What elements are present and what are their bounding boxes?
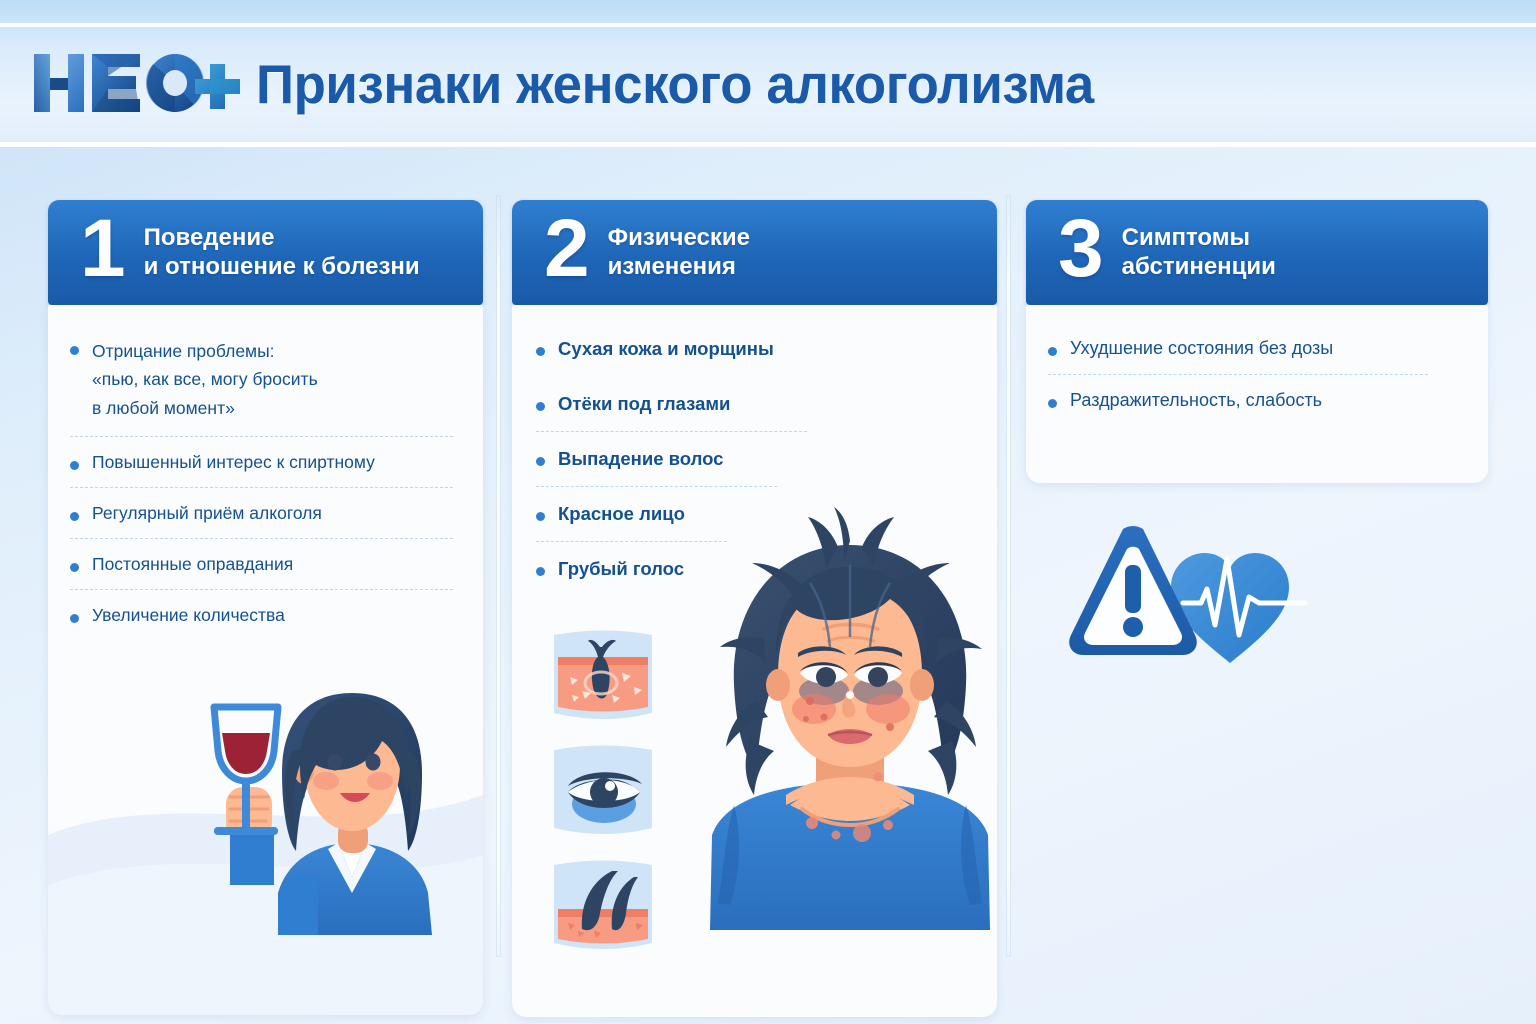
card-3-number: 3 [1058, 213, 1104, 285]
list-item-label: Красное лицо [558, 503, 685, 525]
list-item-label: Постоянные оправдания [92, 554, 293, 575]
list-separator [70, 487, 453, 488]
list-item[interactable]: Отрицание проблемы: «пью, как все, могу … [70, 337, 463, 422]
bullet-dot [70, 614, 79, 623]
list-item[interactable]: Выпадение волос [536, 448, 977, 470]
card-3-title-line2: абстиненции [1122, 253, 1276, 281]
hand [214, 779, 278, 839]
skin-follicle-icon [548, 625, 658, 725]
bullet-dot [70, 461, 79, 470]
bullet-dot [536, 402, 545, 411]
page-title: Признаки женского алкоголизма [256, 52, 1094, 116]
list-item-text: Отрицание проблемы: «пью, как все, могу … [92, 337, 318, 422]
card-3-title: Симптомы абстиненции [1122, 224, 1276, 281]
card-2-title-line2: изменения [608, 253, 750, 281]
list-separator [536, 376, 967, 377]
header-rule-bottom [0, 142, 1536, 147]
card-3-header: 3 Симптомы абстиненции [1026, 200, 1488, 305]
list-separator [70, 538, 453, 539]
hair-loss-icon [548, 855, 658, 955]
card-column-3: 3 Симптомы абстиненции Ухудшение состоян… [1026, 200, 1488, 483]
card-3-body: Ухудшение состояния без дозы Раздражител… [1026, 305, 1488, 483]
header-rule-top [0, 23, 1536, 27]
bullet-dot [1048, 399, 1057, 408]
card-1-header: 1 Поведение и отношение к болезни [48, 200, 483, 305]
list-item[interactable]: Увеличение количества [70, 605, 463, 626]
list-item-label: Сухая кожа и морщины [558, 338, 774, 360]
list-separator [536, 486, 777, 487]
list-separator [70, 589, 453, 590]
list-item-label: Выпадение волос [558, 448, 723, 470]
list-item-label: Раздражительность, слабость [1070, 390, 1322, 411]
bullet-dot [70, 563, 79, 572]
card-2-title: Физические изменения [608, 224, 750, 281]
bullet-dot [536, 567, 545, 576]
list-item[interactable]: Сухая кожа и морщины [536, 338, 977, 360]
column-divider-1 [497, 196, 500, 956]
list-item-label: Повышенный интерес к спиртному [92, 452, 375, 473]
card-1-bullet-list: Отрицание проблемы: «пью, как все, могу … [48, 305, 483, 626]
card-2-number: 2 [544, 213, 590, 285]
eye-bag-icon [548, 740, 658, 840]
card-3-title-line1: Симптомы [1122, 224, 1276, 252]
list-item[interactable]: Повышенный интерес к спиртному [70, 452, 463, 473]
bullet-dot [1048, 347, 1057, 356]
list-item-label: Ухудшение состояния без дозы [1070, 338, 1333, 359]
list-item[interactable]: Регулярный приём алкоголя [70, 503, 463, 524]
list-separator [536, 431, 807, 432]
illustration-warning-and-heartbeat [1055, 515, 1325, 675]
list-item-label: Отёки под глазами [558, 393, 730, 415]
list-separator [1048, 374, 1428, 375]
list-item[interactable]: Раздражительность, слабость [1048, 390, 1468, 411]
card-3-bullet-list: Ухудшение состояния без дозы Раздражител… [1026, 305, 1488, 411]
bullet-dot [70, 512, 79, 521]
icon-tile-stack [548, 625, 658, 955]
neo-plus-logo [32, 50, 244, 116]
card-2-header: 2 Физические изменения [512, 200, 997, 305]
card-2-title-line1: Физические [608, 224, 750, 252]
list-separator [70, 436, 453, 437]
infographic-canvas: Признаки женского алкоголизма 1 Поведени… [0, 0, 1536, 1024]
list-item[interactable]: Ухудшение состояния без дозы [1048, 338, 1468, 359]
list-item[interactable]: Постоянные оправдания [70, 554, 463, 575]
bullet-dot [536, 347, 545, 356]
illustration-woman-with-wine-glass [170, 645, 490, 935]
card-1-title-line1: Поведение [144, 224, 420, 252]
list-item-label: Отрицание проблемы: «пью, как все, могу … [92, 337, 318, 422]
illustration-tired-woman-portrait [690, 505, 1010, 930]
card-1-title: Поведение и отношение к болезни [144, 224, 420, 281]
bullet-dot [536, 512, 545, 521]
bullet-dot [70, 346, 79, 355]
list-item[interactable]: Отёки под глазами [536, 393, 977, 415]
list-item-label: Грубый голос [558, 558, 684, 580]
bullet-dot [536, 457, 545, 466]
list-item-label: Увеличение количества [92, 605, 285, 626]
list-item-label: Регулярный приём алкоголя [92, 503, 322, 524]
card-1-number: 1 [80, 213, 126, 285]
card-1-title-line2: и отношение к болезни [144, 253, 420, 281]
